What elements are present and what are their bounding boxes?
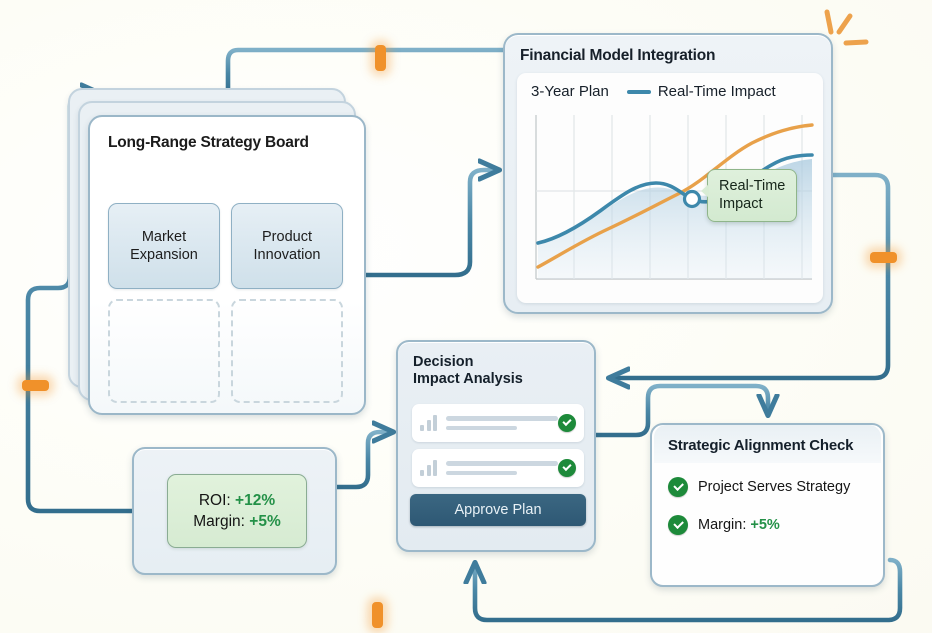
metric-roi: ROI: +12% — [199, 492, 275, 510]
tooltip-line-2: Impact — [719, 195, 785, 213]
sparkle-icon — [812, 2, 878, 52]
board-placeholder-slot-1[interactable] — [108, 299, 220, 403]
wire-metrics-to-decision — [337, 432, 390, 487]
bar-chart-icon — [420, 415, 438, 431]
chart-legend: 3-Year Plan Real-Time Impact — [531, 83, 815, 100]
alignment-item-2-value: +5% — [750, 517, 779, 533]
approve-plan-button[interactable]: Approve Plan — [410, 494, 586, 526]
chart-intersection-marker-icon — [685, 192, 700, 207]
bar-chart-icon — [420, 460, 438, 476]
decision-row-1[interactable] — [412, 404, 584, 442]
board-tile-product-innovation[interactable]: ProductInnovation — [231, 203, 343, 289]
alignment-item-1: Project Serves Strategy — [668, 477, 850, 497]
financial-model-integration-card[interactable]: Financial Model Integration 3-Year Plan … — [503, 33, 833, 314]
board-tile-market-expansion[interactable]: MarketExpansion — [108, 203, 220, 289]
finance-title: Financial Model Integration — [520, 47, 715, 65]
metric-margin: Margin: +5% — [193, 513, 280, 531]
check-circle-icon — [668, 515, 688, 535]
check-circle-icon — [558, 459, 576, 477]
decision-row-1-text-placeholder — [446, 416, 558, 430]
wire-board-to-finance — [366, 170, 496, 275]
flow-marker-left[interactable] — [22, 380, 49, 391]
chart-tooltip: Real-Time Impact — [707, 169, 797, 222]
metric-margin-value: +5% — [249, 513, 280, 530]
decision-title: DecisionImpact Analysis — [413, 354, 523, 389]
metric-roi-label: ROI: — [199, 492, 231, 509]
check-circle-icon — [558, 414, 576, 432]
metrics-highlight-box: ROI: +12% Margin: +5% — [167, 474, 307, 548]
flow-marker-right[interactable] — [870, 252, 897, 263]
alignment-title: Strategic Alignment Check — [668, 437, 853, 454]
long-range-strategy-board-card[interactable]: Long-Range Strategy Board MarketExpansio… — [88, 115, 366, 415]
legend-label-plan: 3-Year Plan — [531, 83, 609, 100]
metric-roi-value: +12% — [235, 492, 275, 509]
strategic-alignment-check-card[interactable]: Strategic Alignment Check Project Serves… — [650, 423, 885, 587]
check-circle-icon — [668, 477, 688, 497]
board-placeholder-slot-2[interactable] — [231, 299, 343, 403]
chart-panel: 3-Year Plan Real-Time Impact — [517, 73, 823, 303]
board-tile-product-innovation-label: ProductInnovation — [254, 228, 321, 264]
legend-item-impact[interactable]: Real-Time Impact — [627, 83, 776, 100]
legend-label-impact: Real-Time Impact — [658, 83, 776, 100]
board-tile-market-expansion-label: MarketExpansion — [130, 228, 198, 264]
alignment-item-2: Margin: +5% — [668, 515, 780, 535]
flow-marker-top[interactable] — [375, 45, 386, 71]
tooltip-line-1: Real-Time — [719, 177, 785, 195]
metrics-card[interactable]: ROI: +12% Margin: +5% — [132, 447, 337, 575]
flow-marker-bottom[interactable] — [372, 602, 383, 628]
board-title: Long-Range Strategy Board — [108, 134, 309, 152]
diagram-canvas: Long-Range Strategy Board MarketExpansio… — [0, 0, 932, 633]
legend-line-swatch-icon — [627, 90, 651, 94]
decision-row-2-text-placeholder — [446, 461, 558, 475]
metric-margin-label: Margin: — [193, 513, 245, 530]
alignment-item-1-label: Project Serves Strategy — [698, 479, 850, 495]
alignment-item-2-label: Margin: +5% — [698, 517, 780, 533]
decision-row-2[interactable] — [412, 449, 584, 487]
decision-impact-analysis-card[interactable]: DecisionImpact Analysis Approve Plan — [396, 340, 596, 552]
legend-item-plan[interactable]: 3-Year Plan — [531, 83, 609, 100]
